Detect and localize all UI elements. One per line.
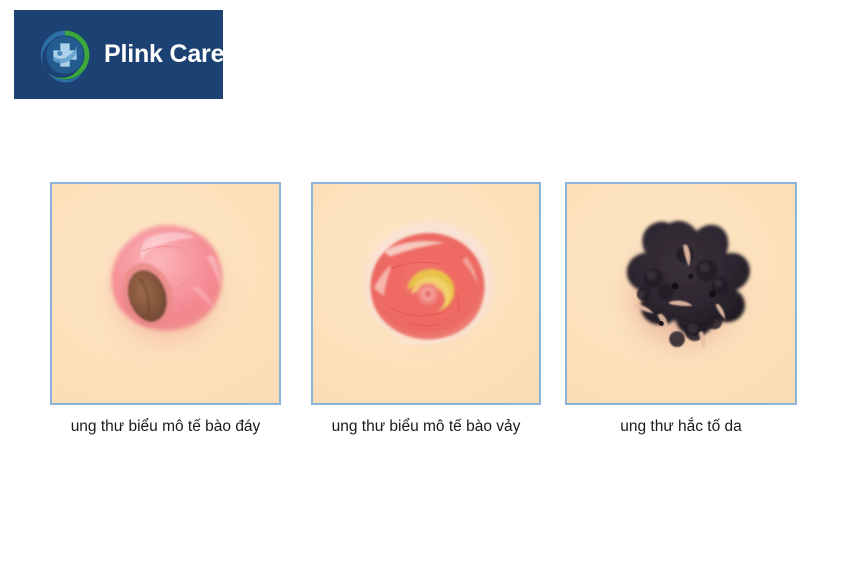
skin-cancer-figure: ung thư biểu mô tế bào đáy (0, 182, 847, 442)
squamous-cell-carcinoma-lesion (313, 184, 539, 403)
brand-name-text: Plink Care (104, 40, 224, 69)
image-frame (311, 182, 541, 405)
image-frame (50, 182, 281, 405)
brand-logo-banner: Plink Care (14, 10, 223, 99)
panel-caption: ung thư biểu mô tế bào vảy (311, 418, 541, 436)
basal-cell-carcinoma-lesion (52, 184, 279, 403)
image-frame (565, 182, 797, 405)
panel-caption: ung thư hắc tố da (565, 418, 797, 436)
panel-caption: ung thư biểu mô tế bào đáy (50, 418, 281, 436)
melanoma-lesion (567, 184, 795, 403)
panel-basal-cell-carcinoma: ung thư biểu mô tế bào đáy (50, 182, 281, 436)
panel-melanoma: ung thư hắc tố da (565, 182, 797, 436)
medical-cross-circle-icon (36, 26, 94, 84)
panel-squamous-cell-carcinoma: ung thư biểu mô tế bào vảy (311, 182, 541, 436)
